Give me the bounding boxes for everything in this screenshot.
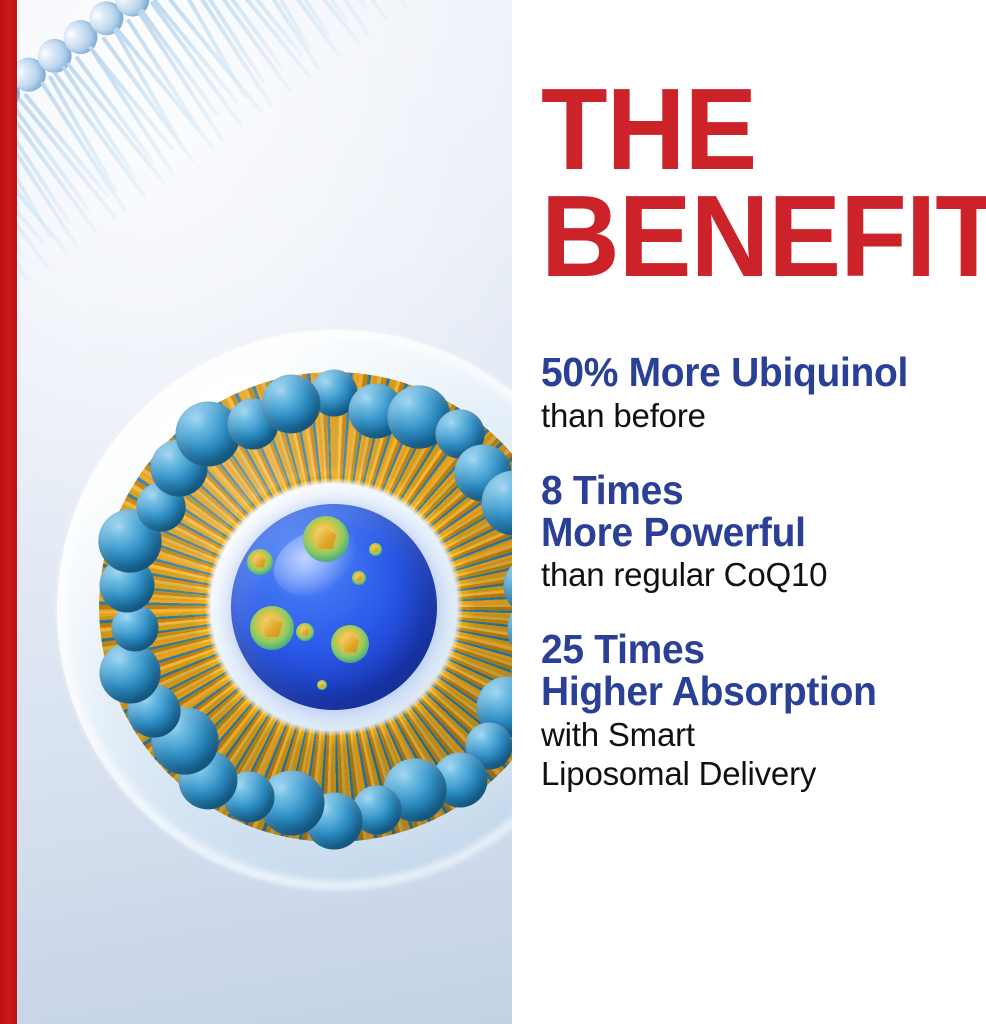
benefit-item: 8 Times More Powerful than regular CoQ10 [541, 470, 986, 596]
benefit-heading: 50% More Ubiquinol [541, 352, 964, 394]
benefit-subtext: than before [541, 397, 986, 436]
accent-bar-gradient [0, 0, 17, 1024]
ubiquinol-crystal [317, 680, 327, 690]
benefit-heading: 25 Times Higher Absorption [541, 629, 964, 713]
ubiquinol-crystal [247, 549, 273, 575]
ubiquinol-crystal [369, 543, 382, 556]
benefits-list: 50% More Ubiquinol than before 8 Times M… [541, 352, 986, 794]
bilayer-tail-row [17, 0, 512, 372]
left-red-accent-bar [0, 0, 17, 1024]
liposome-core [231, 504, 437, 710]
benefit-item: 25 Times Higher Absorption with Smart Li… [541, 629, 986, 794]
benefit-subtext: than regular CoQ10 [541, 556, 986, 595]
liposome [99, 372, 512, 842]
ubiquinol-crystal [296, 623, 314, 641]
ubiquinol-crystal [331, 625, 369, 663]
ubiquinol-crystal [303, 516, 349, 562]
head-group-bead [503, 557, 512, 616]
ubiquinol-crystal [352, 571, 366, 585]
page-title: THE BENEFITS [541, 76, 955, 289]
benefit-heading: 8 Times More Powerful [541, 470, 964, 554]
liposome-illustration-panel [17, 0, 512, 1024]
benefit-item: 50% More Ubiquinol than before [541, 352, 986, 436]
ubiquinol-crystal [250, 606, 294, 650]
head-group-bead [261, 374, 320, 433]
text-column: THE BENEFITS 50% More Ubiquinol than bef… [512, 0, 986, 1024]
benefits-infographic: THE BENEFITS 50% More Ubiquinol than bef… [0, 0, 986, 1024]
benefit-subtext: with Smart Liposomal Delivery [541, 716, 986, 794]
